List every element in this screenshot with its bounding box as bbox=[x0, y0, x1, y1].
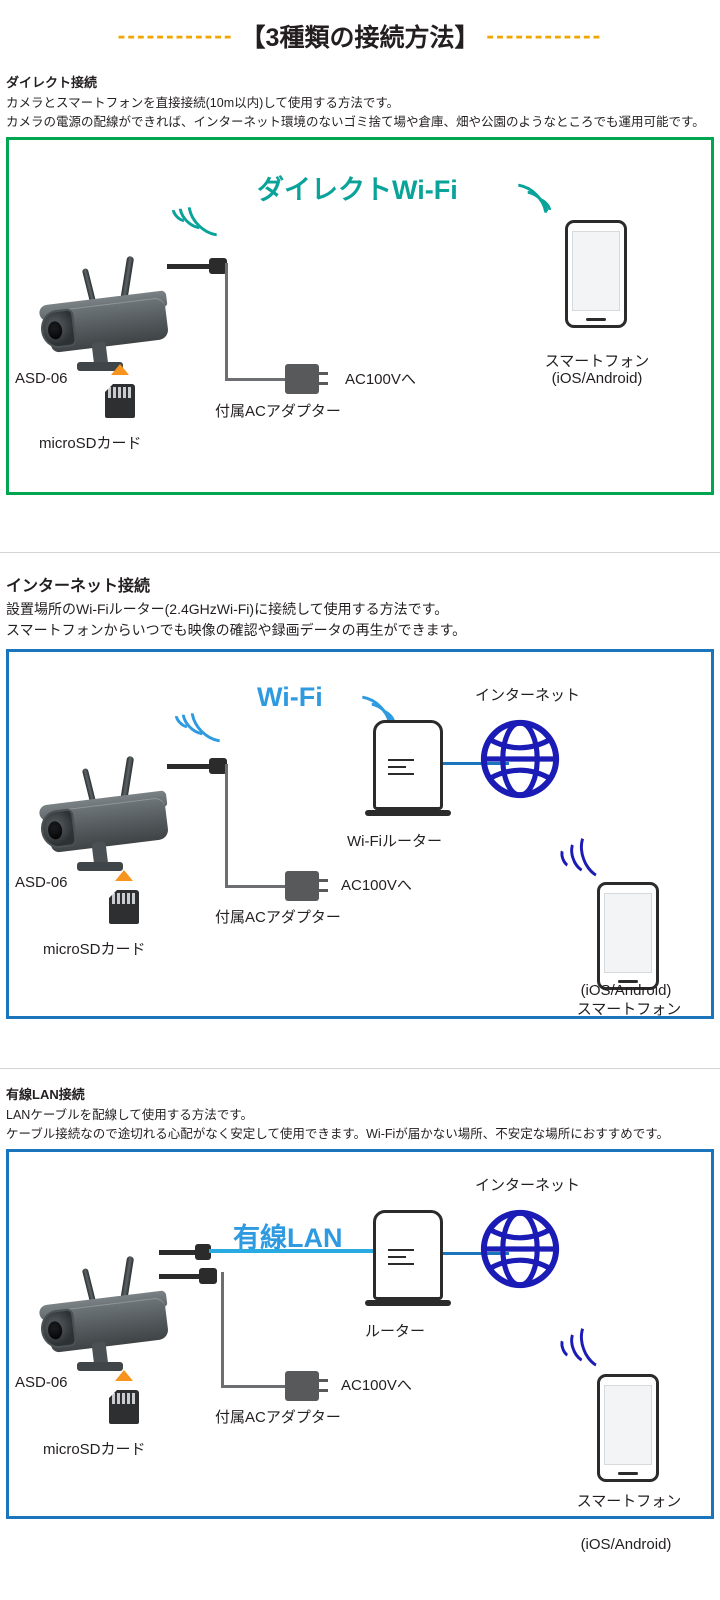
lan-lead bbox=[159, 1250, 199, 1255]
power-wire-horizontal bbox=[225, 885, 287, 888]
smartphone bbox=[597, 882, 659, 990]
section-direct: ダイレクト接続 カメラとスマートフォンを直接接続(10m以内)して使用する方法で… bbox=[0, 72, 720, 495]
power-wire-horizontal bbox=[225, 378, 287, 381]
microsd-label: microSDカード bbox=[43, 938, 146, 959]
section-internet-line-2: スマートフォンからいつでも映像の確認や録画データの再生ができます。 bbox=[6, 620, 720, 640]
camera-power-lead bbox=[167, 764, 215, 769]
ac-adapter bbox=[285, 871, 319, 901]
router-label: Wi-Fiルーター bbox=[347, 830, 442, 851]
section-internet: インターネット接続 設置場所のWi-Fiルーター(2.4GHzWi-Fi)に接続… bbox=[0, 572, 720, 1019]
ac-adapter bbox=[285, 364, 319, 394]
internet-globe-icon bbox=[477, 1206, 563, 1292]
section-direct-title: ダイレクト接続 bbox=[6, 72, 720, 91]
phone-label-2: (iOS/Android) bbox=[535, 370, 659, 387]
camera-power-lead bbox=[167, 264, 215, 269]
camera-asd06 bbox=[21, 1250, 201, 1380]
diagram-direct: ダイレクトWi-Fi AC100Vへ 付属ACアダプター ASD-06 bbox=[6, 137, 714, 495]
page-title: ------------ 【3種類の接続方法】 ------------ bbox=[0, 18, 720, 54]
internet-label: インターネット bbox=[475, 1174, 580, 1195]
section-internet-line-1: 設置場所のWi-Fiルーター(2.4GHzWi-Fi)に接続して使用する方法です… bbox=[6, 599, 720, 619]
ac-adapter-label: 付属ACアダプター bbox=[215, 400, 341, 421]
power-wire-vertical bbox=[221, 1272, 224, 1388]
internet-globe-icon bbox=[477, 716, 563, 802]
ac-adapter-label: 付属ACアダプター bbox=[215, 1406, 341, 1427]
phone-label-1: スマートフォン bbox=[535, 350, 659, 371]
ac-adapter bbox=[285, 1371, 319, 1401]
power-wire-horizontal bbox=[221, 1385, 287, 1388]
router-base bbox=[365, 810, 451, 816]
header-dash-left: ------------ bbox=[118, 22, 234, 48]
header-title-text: 【3種類の接続方法】 bbox=[241, 24, 480, 52]
camera-power-plug bbox=[199, 1268, 217, 1284]
ac100v-label: AC100Vへ bbox=[341, 874, 412, 895]
camera-label: ASD-06 bbox=[15, 1374, 68, 1391]
smartphone bbox=[565, 220, 627, 328]
wifi-router bbox=[373, 720, 443, 810]
divider-1 bbox=[0, 552, 720, 553]
page-root: ------------ 【3種類の接続方法】 ------------ ダイレ… bbox=[0, 0, 720, 1600]
microsd-card bbox=[109, 890, 139, 924]
wifi-arc-camera-icon bbox=[174, 180, 234, 250]
header-dash-right: ------------ bbox=[486, 22, 602, 48]
power-wire-vertical bbox=[225, 263, 228, 381]
sd-slot-arrow-icon bbox=[115, 870, 133, 881]
phone-label-1: スマートフォン bbox=[565, 998, 693, 1019]
router-label: ルーター bbox=[365, 1320, 425, 1341]
microsd-card bbox=[105, 384, 135, 418]
ac100v-label: AC100Vへ bbox=[345, 368, 416, 389]
ac-adapter-label: 付属ACアダプター bbox=[215, 906, 341, 927]
router bbox=[373, 1210, 443, 1300]
microsd-label: microSDカード bbox=[43, 1438, 146, 1459]
diagram-internet: Wi-Fi Wi-Fiルーター インターネット bbox=[6, 649, 714, 1019]
phone-label-2: (iOS/Android) bbox=[562, 982, 690, 999]
wifi-heading: Wi-Fi bbox=[257, 682, 323, 713]
wifi-arc-camera-icon bbox=[177, 686, 237, 756]
divider-2 bbox=[0, 1068, 720, 1069]
lan-cable bbox=[209, 1249, 379, 1253]
section-wired-line-1: LANケーブルを配線して使用する方法です。 bbox=[6, 1106, 720, 1124]
camera-label: ASD-06 bbox=[15, 370, 68, 387]
wifi-arc-phone-icon bbox=[505, 174, 565, 244]
sd-slot-arrow-icon bbox=[111, 364, 129, 375]
section-internet-title: インターネット接続 bbox=[6, 572, 720, 596]
section-wired: 有線LAN接続 LANケーブルを配線して使用する方法です。 ケーブル接続なので途… bbox=[0, 1084, 720, 1519]
camera-asd06 bbox=[21, 250, 201, 380]
section-direct-line-2: カメラの電源の配線ができれば、インターネット環境のないゴミ捨て場や倉庫、畑や公園… bbox=[6, 113, 720, 131]
router-base bbox=[365, 1300, 451, 1306]
internet-label: インターネット bbox=[475, 684, 580, 705]
microsd-card bbox=[109, 1390, 139, 1424]
ac100v-label: AC100Vへ bbox=[341, 1374, 412, 1395]
smartphone bbox=[597, 1374, 659, 1482]
power-wire-vertical bbox=[225, 764, 228, 888]
wifi-arc-phone-icon bbox=[561, 1312, 621, 1382]
camera-asd06 bbox=[21, 750, 201, 880]
phone-label-1: スマートフォン bbox=[565, 1490, 693, 1511]
diagram-wired: 有線LAN ルーター インターネット bbox=[6, 1149, 714, 1519]
sd-slot-arrow-icon bbox=[115, 1370, 133, 1381]
camera-power-lead bbox=[159, 1274, 203, 1279]
microsd-label: microSDカード bbox=[39, 432, 142, 453]
section-wired-title: 有線LAN接続 bbox=[6, 1084, 720, 1103]
direct-wifi-heading: ダイレクトWi-Fi bbox=[257, 168, 458, 207]
section-direct-line-1: カメラとスマートフォンを直接接続(10m以内)して使用する方法です。 bbox=[6, 94, 720, 112]
camera-label: ASD-06 bbox=[15, 874, 68, 891]
section-wired-line-2: ケーブル接続なので途切れる心配がなく安定して使用できます。Wi-Fiが届かない場… bbox=[6, 1125, 720, 1143]
phone-label-2: (iOS/Android) bbox=[562, 1536, 690, 1553]
